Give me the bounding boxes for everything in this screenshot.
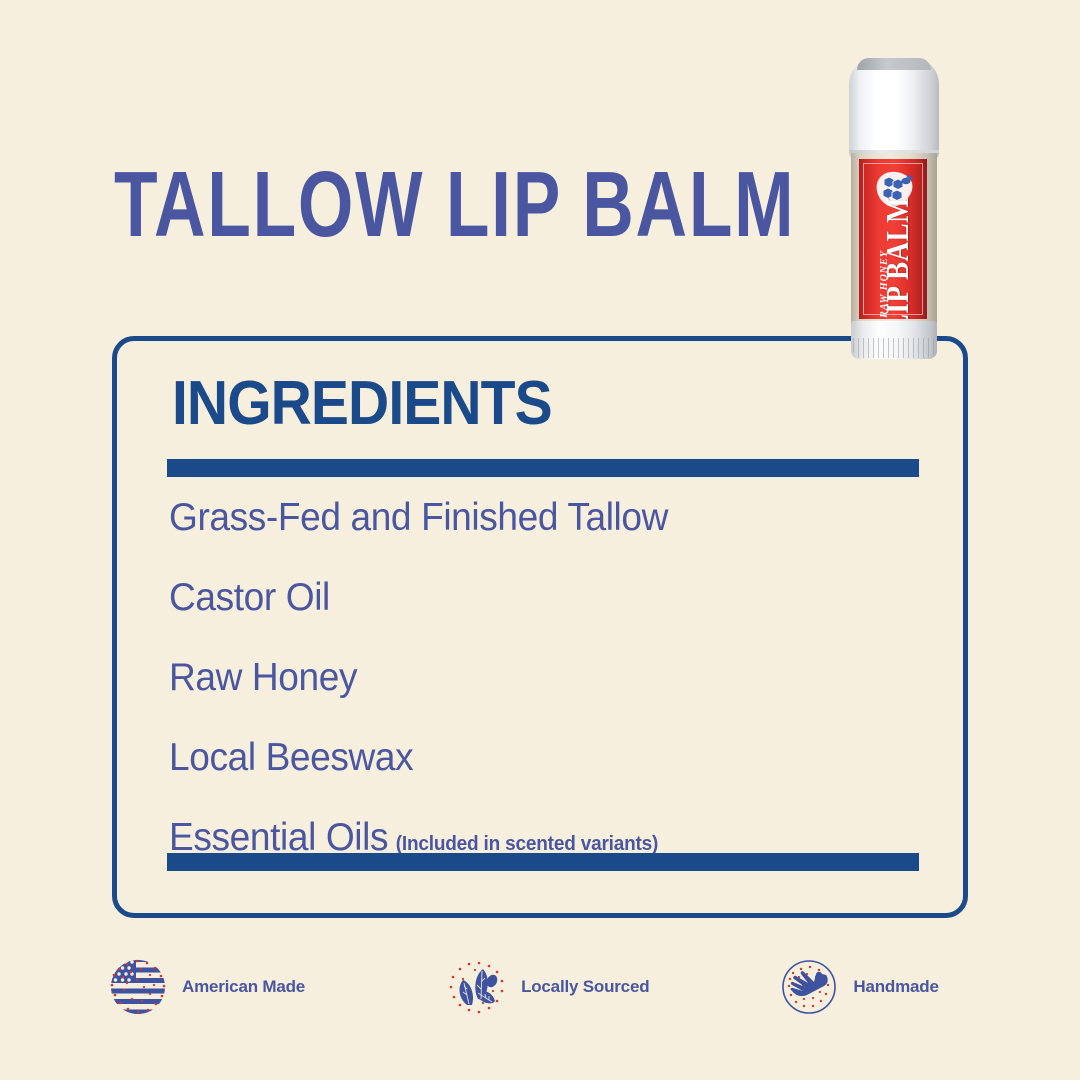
page-title: TALLOW LIP BALM bbox=[114, 160, 733, 250]
badge-label: American Made bbox=[182, 977, 305, 997]
ingredient-name: Raw Honey bbox=[169, 656, 357, 699]
badge-label: Handmade bbox=[853, 977, 938, 997]
ingredient-name: Castor Oil bbox=[169, 576, 330, 619]
badge-label: Locally Sourced bbox=[521, 977, 649, 997]
lip-balm-tube-image: LIP BALM RAW HONEY bbox=[845, 58, 943, 358]
tube-base-ribs bbox=[853, 338, 935, 358]
list-item: Grass-Fed and Finished Tallow bbox=[169, 496, 891, 546]
ingredient-name: Local Beeswax bbox=[169, 736, 413, 779]
badge-american-made: American Made bbox=[106, 955, 305, 1019]
ingredient-name: Grass-Fed and Finished Tallow bbox=[169, 496, 668, 539]
leaves-icon bbox=[445, 955, 509, 1019]
list-item: Raw Honey bbox=[169, 656, 891, 706]
badge-handmade: Handmade bbox=[777, 955, 938, 1019]
divider-bottom bbox=[167, 853, 919, 871]
tube-cap-top bbox=[857, 58, 931, 70]
list-item: Local Beeswax bbox=[169, 736, 891, 786]
hand-icon bbox=[777, 955, 841, 1019]
trust-badges-row: American Made bbox=[100, 948, 986, 1026]
tube-label-brand: RAW HONEY bbox=[880, 236, 890, 319]
badge-locally-sourced: Locally Sourced bbox=[445, 955, 649, 1019]
ingredient-note: (Included in scented variants) bbox=[396, 833, 658, 855]
tube-cap bbox=[849, 58, 939, 158]
divider-top bbox=[167, 459, 919, 477]
list-item: Castor Oil bbox=[169, 576, 891, 626]
usa-flag-circle-icon bbox=[106, 955, 170, 1019]
tube-label: LIP BALM RAW HONEY bbox=[859, 159, 927, 319]
poster-canvas: TALLOW LIP BALM bbox=[0, 0, 1080, 1080]
ingredients-card: INGREDIENTS Grass-Fed and Finished Tallo… bbox=[112, 336, 968, 918]
ingredients-heading: INGREDIENTS bbox=[172, 373, 552, 435]
ingredients-list: Grass-Fed and Finished Tallow Castor Oil… bbox=[169, 496, 929, 866]
